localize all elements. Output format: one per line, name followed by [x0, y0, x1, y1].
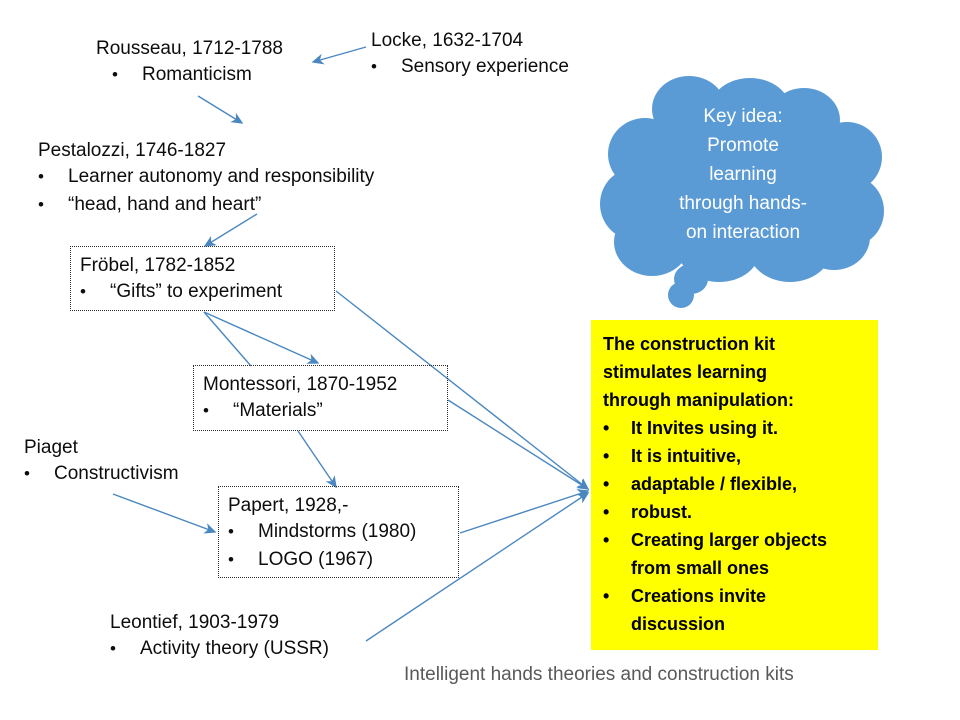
bullet-icon: • — [603, 470, 631, 498]
bullet-icon: • — [371, 53, 401, 81]
bullet-icon: • — [228, 546, 258, 574]
node-pestalozzi-heading: Pestalozzi, 1746-1827 — [38, 138, 374, 163]
arrow-rousseau-to-pestalozzi — [198, 96, 242, 123]
conclusion-bullet-1: • It Invites using it. — [603, 414, 866, 442]
conclusion-bullet-5-text: Creating larger objects from small ones — [631, 526, 863, 582]
bullet-icon: • — [110, 635, 140, 663]
bullet-icon: • — [38, 163, 68, 191]
cloud-text: Key idea: Promote learning through hands… — [600, 102, 886, 247]
node-rousseau-bullet-1: • Romanticism — [96, 61, 283, 89]
conclusion-bullet-3-text: adaptable / flexible, — [631, 470, 797, 498]
node-rousseau-heading: Rousseau, 1712-1788 — [96, 36, 283, 61]
conclusion-bullet-4-text: robust. — [631, 498, 692, 526]
bullet-icon: • — [112, 61, 142, 89]
arrow-locke-to-rousseau — [313, 47, 366, 62]
node-frobel-bullet-text: “Gifts” to experiment — [110, 278, 282, 306]
bullet-icon: • — [603, 442, 631, 470]
bullet-icon: • — [603, 414, 631, 442]
key-idea-thought-cloud[interactable]: Key idea: Promote learning through hands… — [600, 76, 886, 311]
slide-canvas: Rousseau, 1712-1788 • Romanticism Locke,… — [0, 0, 960, 720]
conclusion-bullet-6-text: Creations invite discussion — [631, 582, 863, 638]
bullet-icon: • — [603, 498, 631, 526]
node-frobel-heading: Fröbel, 1782-1852 — [71, 253, 334, 278]
cloud-line-4: through hands- — [600, 189, 886, 218]
node-pestalozzi-bullet-text-2: “head, hand and heart” — [68, 191, 261, 219]
node-pestalozzi-bullet-1: • Learner autonomy and responsibility — [38, 163, 374, 191]
node-leontief[interactable]: Leontief, 1903-1979 • Activity theory (U… — [110, 610, 329, 663]
cloud-line-1: Key idea: — [600, 102, 886, 131]
node-locke-heading: Locke, 1632-1704 — [371, 28, 569, 53]
cloud-line-2: Promote — [600, 131, 886, 160]
node-leontief-heading: Leontief, 1903-1979 — [110, 610, 329, 635]
node-montessori-bullet-1: • “Materials” — [194, 397, 447, 425]
node-montessori-box[interactable]: Montessori, 1870-1952 • “Materials” — [193, 365, 448, 431]
cloud-line-3: learning — [600, 160, 886, 189]
node-papert-bullet-text-2: LOGO (1967) — [258, 546, 373, 574]
cloud-line-5: on interaction — [600, 218, 886, 247]
node-piaget-heading: Piaget — [24, 435, 179, 460]
slide-caption: Intelligent hands theories and construct… — [404, 664, 794, 686]
bullet-icon: • — [603, 582, 631, 638]
arrow-piaget-to-papert — [113, 494, 215, 532]
bullet-icon: • — [80, 278, 110, 306]
conclusion-bullet-5: • Creating larger objects from small one… — [603, 526, 866, 582]
node-piaget-bullet-text: Constructivism — [54, 460, 179, 488]
line-frobel-to-montessori-left — [204, 312, 251, 366]
arrow-frobel-to-montessori — [204, 312, 318, 363]
node-rousseau[interactable]: Rousseau, 1712-1788 • Romanticism — [96, 36, 283, 89]
node-papert-heading: Papert, 1928,- — [219, 493, 458, 518]
node-papert-bullet-2: • LOGO (1967) — [219, 546, 458, 574]
conclusion-heading-line-2: stimulates learning — [603, 358, 866, 386]
node-rousseau-bullet-text: Romanticism — [142, 61, 252, 89]
bullet-icon: • — [228, 518, 258, 546]
node-frobel-box[interactable]: Fröbel, 1782-1852 • “Gifts” to experimen… — [70, 246, 335, 311]
arrow-papert-to-panel — [460, 491, 588, 533]
conclusion-heading-line-1: The construction kit — [603, 330, 866, 358]
node-piaget-bullet-1: • Constructivism — [24, 460, 179, 488]
node-papert-bullet-1: • Mindstorms (1980) — [219, 518, 458, 546]
conclusion-bullet-1-text: It Invites using it. — [631, 414, 778, 442]
node-leontief-bullet-1: • Activity theory (USSR) — [110, 635, 329, 663]
node-piaget[interactable]: Piaget • Constructivism — [24, 435, 179, 488]
conclusion-bullet-2-text: It is intuitive, — [631, 442, 741, 470]
node-locke-bullet-text: Sensory experience — [401, 53, 569, 81]
node-leontief-bullet-text: Activity theory (USSR) — [140, 635, 329, 663]
node-montessori-bullet-text: “Materials” — [233, 397, 323, 425]
node-locke[interactable]: Locke, 1632-1704 • Sensory experience — [371, 28, 569, 81]
bullet-icon: • — [38, 191, 68, 219]
arrow-montessori-to-papert — [298, 431, 336, 487]
node-frobel-bullet-1: • “Gifts” to experiment — [71, 278, 334, 306]
conclusion-bullet-6: • Creations invite discussion — [603, 582, 866, 638]
node-pestalozzi[interactable]: Pestalozzi, 1746-1827 • Learner autonomy… — [38, 138, 374, 219]
arrow-montessori-to-panel — [448, 400, 588, 489]
cloud-tail-bubble-small — [668, 282, 694, 308]
bullet-icon: • — [24, 460, 54, 488]
node-pestalozzi-bullet-2: • “head, hand and heart” — [38, 191, 374, 219]
node-papert-box[interactable]: Papert, 1928,- • Mindstorms (1980) • LOG… — [218, 486, 459, 578]
bullet-icon: • — [203, 397, 233, 425]
bullet-icon: • — [603, 526, 631, 582]
node-montessori-heading: Montessori, 1870-1952 — [194, 372, 447, 397]
conclusion-heading-line-3: through manipulation: — [603, 386, 866, 414]
conclusion-panel[interactable]: The construction kit stimulates learning… — [591, 320, 878, 650]
node-papert-bullet-text: Mindstorms (1980) — [258, 518, 416, 546]
conclusion-bullet-4: • robust. — [603, 498, 866, 526]
node-pestalozzi-bullet-text: Learner autonomy and responsibility — [68, 163, 374, 191]
conclusion-bullet-3: • adaptable / flexible, — [603, 470, 866, 498]
conclusion-bullet-2: • It is intuitive, — [603, 442, 866, 470]
node-locke-bullet-1: • Sensory experience — [371, 53, 569, 81]
